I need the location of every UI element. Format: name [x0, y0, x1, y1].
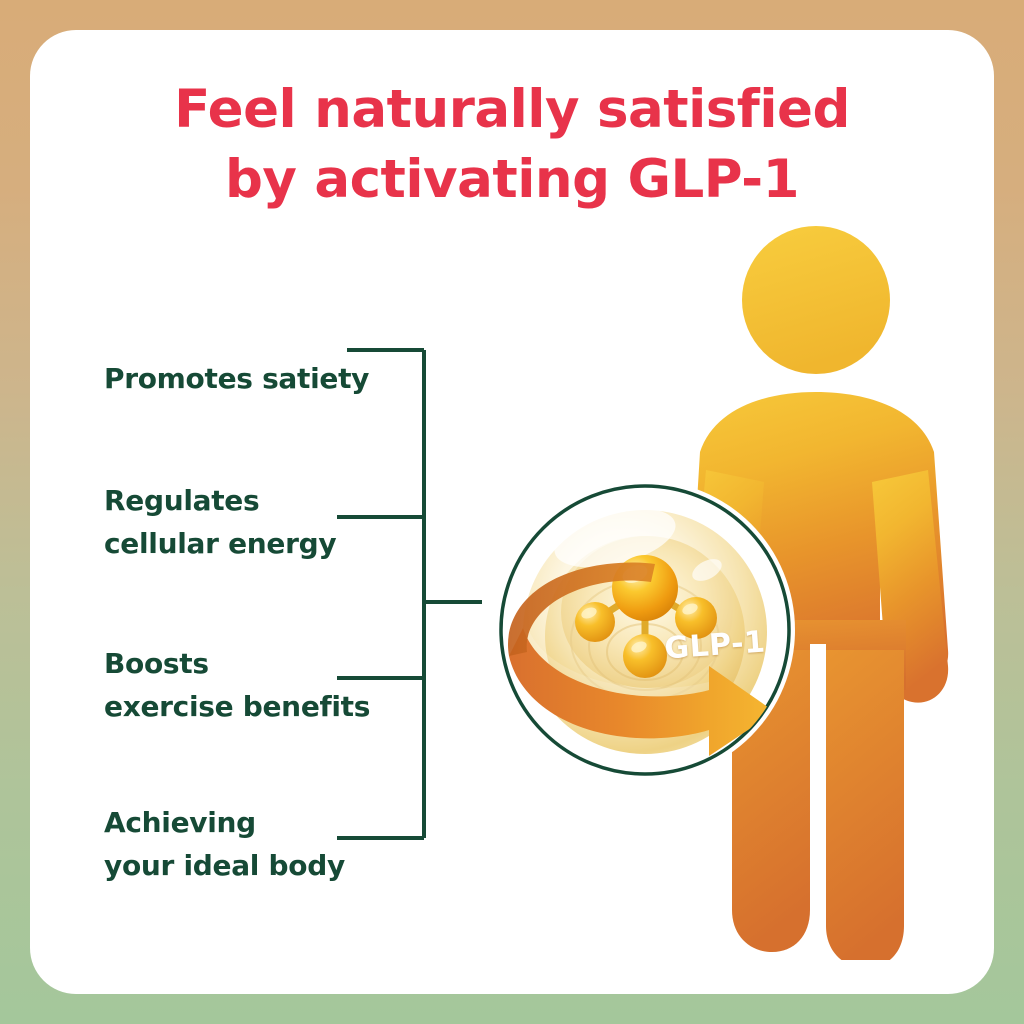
benefit-label-boosts-exercise-benefits: Boosts exercise benefits — [104, 643, 370, 728]
glp1-cell-illustration: GLP-1 — [475, 460, 815, 800]
benefit-2-line-1: Boosts — [104, 643, 370, 686]
benefit-label-promotes-satiety: Promotes satiety — [104, 358, 369, 401]
benefit-0-line-1: Promotes satiety — [104, 358, 369, 401]
headline-line-2: by activating GLP-1 — [30, 145, 994, 215]
benefit-3-line-1: Achieving — [104, 802, 345, 845]
benefit-label-regulates-cellular-energy: Regulates cellular energy — [104, 480, 336, 565]
benefit-3-line-2: your ideal body — [104, 845, 345, 888]
headline-line-1: Feel naturally satisfied — [30, 75, 994, 145]
benefit-1-line-2: cellular energy — [104, 523, 336, 566]
benefit-label-achieving-your-ideal-body: Achieving your ideal body — [104, 802, 345, 887]
white-card: Feel naturally satisfied by activating G… — [30, 30, 994, 994]
page-title: Feel naturally satisfied by activating G… — [30, 75, 994, 215]
benefit-1-line-1: Regulates — [104, 480, 336, 523]
figure-right-leg — [826, 650, 904, 960]
benefit-2-line-2: exercise benefits — [104, 686, 370, 729]
poster-canvas: Feel naturally satisfied by activating G… — [0, 0, 1024, 1024]
figure-head — [742, 226, 890, 374]
